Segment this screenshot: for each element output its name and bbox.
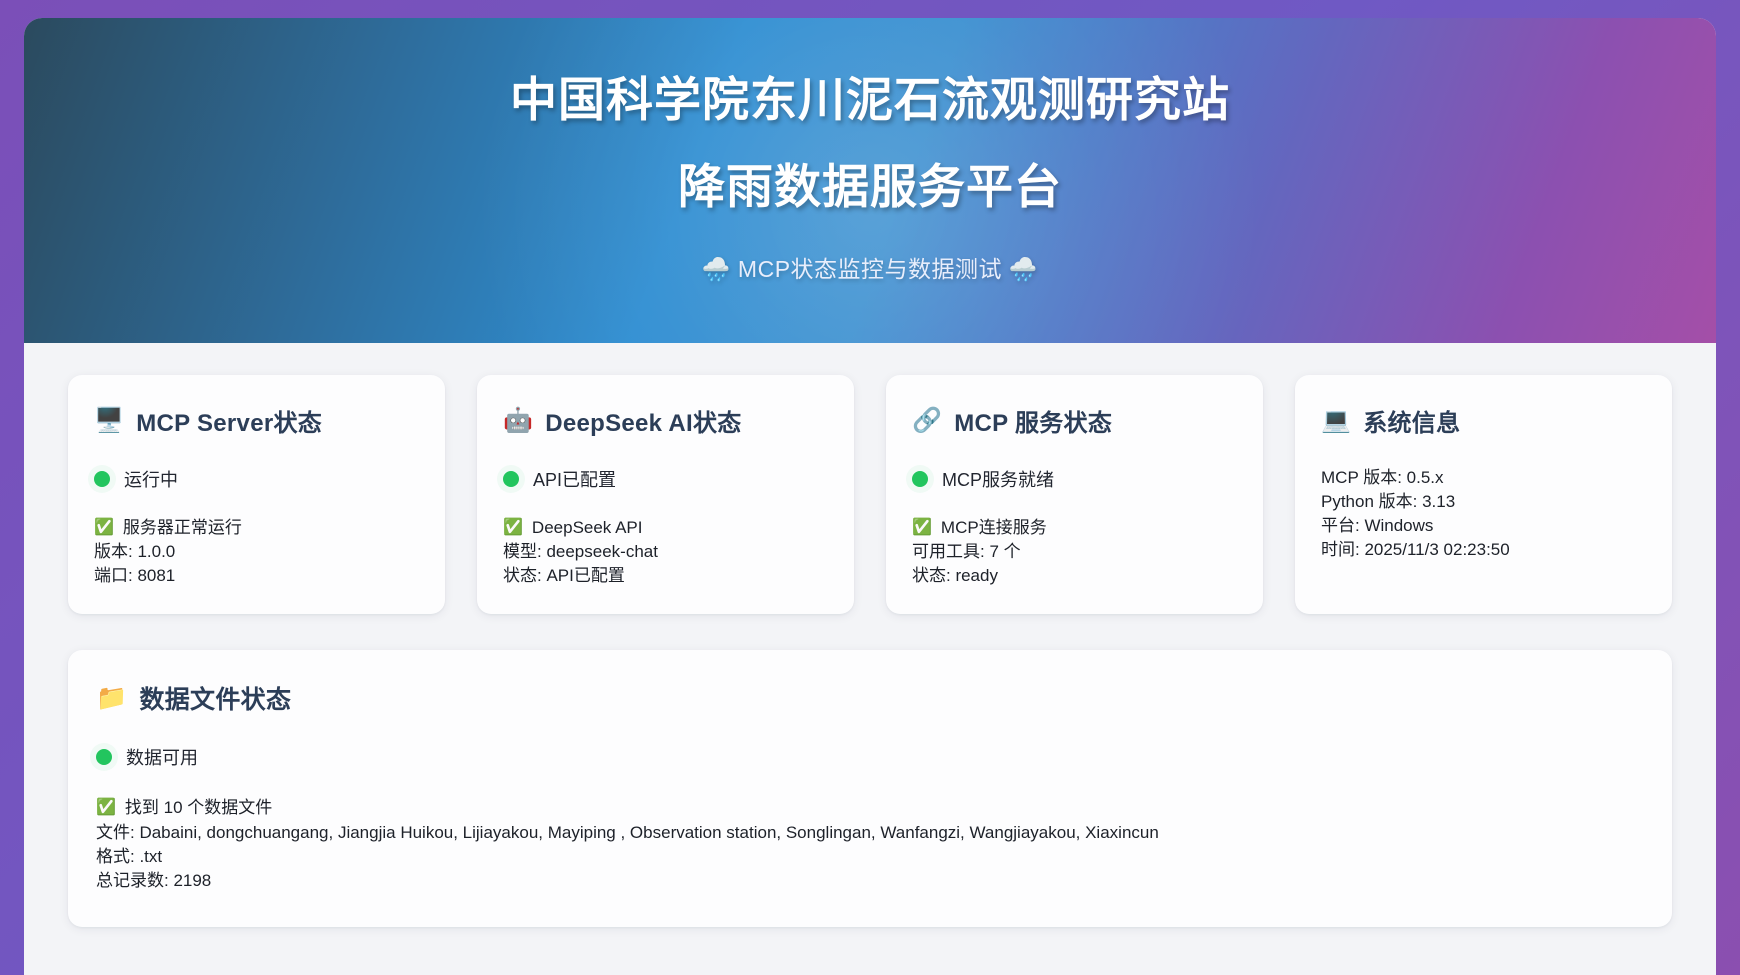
page-title-line1: 中国科学院东川泥石流观测研究站: [24, 76, 1716, 123]
status-card-deepseek-ai[interactable]: 🤖 DeepSeek AI状态 API已配置 ✅ DeepSeek API 模型…: [477, 375, 854, 614]
link-icon: 🔗: [912, 409, 942, 433]
status-badge: 运行中: [124, 466, 178, 492]
check-mark-icon: ✅: [912, 520, 932, 536]
card-title-label: 数据文件状态: [139, 680, 291, 716]
card-title-label: MCP 服务状态: [954, 403, 1112, 438]
card-title: 🤖 DeepSeek AI状态: [503, 403, 828, 438]
detail-line: 版本: 1.0.0: [94, 540, 419, 564]
status-badge: 数据可用: [126, 744, 198, 770]
detail-headline: ✅ MCP连接服务: [912, 516, 1237, 540]
status-dot-icon: [912, 471, 928, 487]
detail-line: 状态: ready: [912, 564, 1237, 588]
status-indicator-row: 数据可用: [96, 744, 1644, 770]
status-card-mcp-service[interactable]: 🔗 MCP 服务状态 MCP服务就绪 ✅ MCP连接服务 可用工具: 7 个 状…: [886, 375, 1263, 614]
desktop-computer-icon: 🖥️: [94, 409, 124, 433]
app-window: 中国科学院东川泥石流观测研究站 降雨数据服务平台 🌧️ MCP状态监控与数据测试…: [24, 18, 1716, 975]
laptop-icon: 💻: [1321, 409, 1351, 433]
detail-line: Python 版本: 3.13: [1321, 490, 1646, 514]
page-title-line2: 降雨数据服务平台: [24, 163, 1716, 210]
card-details: ✅ 找到 10 个数据文件 文件: Dabaini, dongchuangang…: [96, 796, 1644, 893]
card-details: ✅ 服务器正常运行 版本: 1.0.0 端口: 8081: [94, 516, 419, 588]
status-card-system-info[interactable]: 💻 系统信息 MCP 版本: 0.5.x Python 版本: 3.13 平台:…: [1295, 375, 1672, 614]
card-title: 🖥️ MCP Server状态: [94, 403, 419, 438]
status-card-mcp-server[interactable]: 🖥️ MCP Server状态 运行中 ✅ 服务器正常运行 版本: 1.0.0 …: [68, 375, 445, 614]
folder-icon: 📁: [96, 686, 127, 711]
robot-icon: 🤖: [503, 409, 533, 433]
status-dot-icon: [94, 471, 110, 487]
card-title-label: MCP Server状态: [136, 403, 322, 438]
card-title: 💻 系统信息: [1321, 403, 1646, 438]
status-indicator-row: 运行中: [94, 466, 419, 492]
detail-line: 端口: 8081: [94, 564, 419, 588]
detail-line-records: 总记录数: 2198: [96, 869, 1644, 893]
detail-line: 模型: deepseek-chat: [503, 540, 828, 564]
card-title-label: 系统信息: [1363, 403, 1460, 438]
card-title: 📁 数据文件状态: [96, 680, 1644, 716]
detail-line: MCP 版本: 0.5.x: [1321, 466, 1646, 490]
status-badge: MCP服务就绪: [942, 466, 1054, 492]
detail-line: 时间: 2025/11/3 02:23:50: [1321, 538, 1646, 562]
page-header: 中国科学院东川泥石流观测研究站 降雨数据服务平台 🌧️ MCP状态监控与数据测试…: [24, 18, 1716, 343]
status-card-grid: 🖥️ MCP Server状态 运行中 ✅ 服务器正常运行 版本: 1.0.0 …: [68, 375, 1672, 614]
detail-headline-label: 服务器正常运行: [123, 516, 242, 540]
detail-line: 可用工具: 7 个: [912, 540, 1237, 564]
card-title: 🔗 MCP 服务状态: [912, 403, 1237, 438]
status-indicator-row: API已配置: [503, 466, 828, 492]
card-details: ✅ DeepSeek API 模型: deepseek-chat 状态: API…: [503, 516, 828, 588]
detail-line-files: 文件: Dabaini, dongchuangang, Jiangjia Hui…: [96, 821, 1644, 845]
card-details: MCP 版本: 0.5.x Python 版本: 3.13 平台: Window…: [1321, 466, 1646, 563]
check-mark-icon: ✅: [94, 520, 114, 536]
detail-line-format: 格式: .txt: [96, 845, 1644, 869]
detail-line: 状态: API已配置: [503, 564, 828, 588]
detail-headline-label: DeepSeek API: [532, 516, 643, 540]
detail-line: 平台: Windows: [1321, 514, 1646, 538]
check-mark-icon: ✅: [96, 800, 116, 816]
card-details: ✅ MCP连接服务 可用工具: 7 个 状态: ready: [912, 516, 1237, 588]
card-title-label: DeepSeek AI状态: [545, 403, 741, 438]
check-mark-icon: ✅: [503, 520, 523, 536]
status-dot-icon: [96, 749, 112, 765]
status-dot-icon: [503, 471, 519, 487]
status-badge: API已配置: [533, 466, 616, 492]
detail-headline-label: MCP连接服务: [941, 516, 1047, 540]
detail-headline: ✅ DeepSeek API: [503, 516, 828, 540]
status-indicator-row: MCP服务就绪: [912, 466, 1237, 492]
detail-headline: ✅ 服务器正常运行: [94, 516, 419, 540]
data-file-status-panel[interactable]: 📁 数据文件状态 数据可用 ✅ 找到 10 个数据文件 文件: Dabaini,…: [68, 650, 1672, 927]
detail-headline-label: 找到 10 个数据文件: [125, 796, 272, 820]
page-subtitle: 🌧️ MCP状态监控与数据测试 🌧️: [24, 250, 1716, 284]
main-content: 🖥️ MCP Server状态 运行中 ✅ 服务器正常运行 版本: 1.0.0 …: [24, 343, 1716, 927]
detail-headline: ✅ 找到 10 个数据文件: [96, 796, 1644, 820]
